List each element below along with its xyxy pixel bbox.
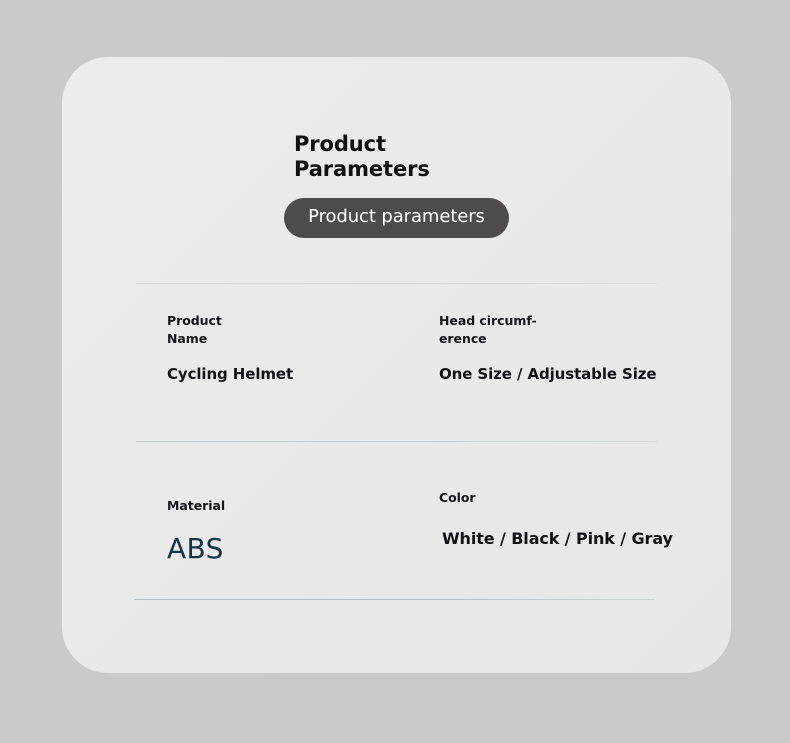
spec-label: Product Name	[167, 312, 437, 348]
page-title: Product Parameters	[294, 132, 534, 182]
spec-value: Cycling Helmet	[167, 364, 437, 384]
spec-cell-color: Color White / Black / Pink / Gray	[439, 489, 719, 549]
spec-value: One Size / Adjustable Size	[439, 364, 719, 384]
divider-top	[136, 283, 657, 284]
spec-row: Material ABS Color White / Black / Pink …	[62, 475, 731, 595]
spec-value: White / Black / Pink / Gray	[439, 529, 719, 549]
badge-container: Product parameters	[62, 198, 731, 238]
spec-cell-head-circumference: Head circumf- erence One Size / Adjustab…	[439, 312, 719, 384]
spec-label: Head circumf- erence	[439, 312, 719, 348]
product-parameters-badge: Product parameters	[284, 198, 509, 238]
spec-cell-product-name: Product Name Cycling Helmet	[167, 312, 437, 384]
spec-label: Color	[439, 489, 719, 507]
product-parameters-card: Product Parameters Product parameters Pr…	[62, 57, 731, 673]
spec-value: ABS	[167, 533, 437, 565]
divider-middle	[136, 441, 657, 442]
spec-row: Product Name Cycling Helmet Head circumf…	[62, 312, 731, 432]
page-root: Product Parameters Product parameters Pr…	[0, 0, 790, 743]
divider-bottom	[134, 599, 655, 600]
spec-label: Material	[167, 497, 437, 515]
spec-cell-material: Material ABS	[167, 497, 437, 565]
